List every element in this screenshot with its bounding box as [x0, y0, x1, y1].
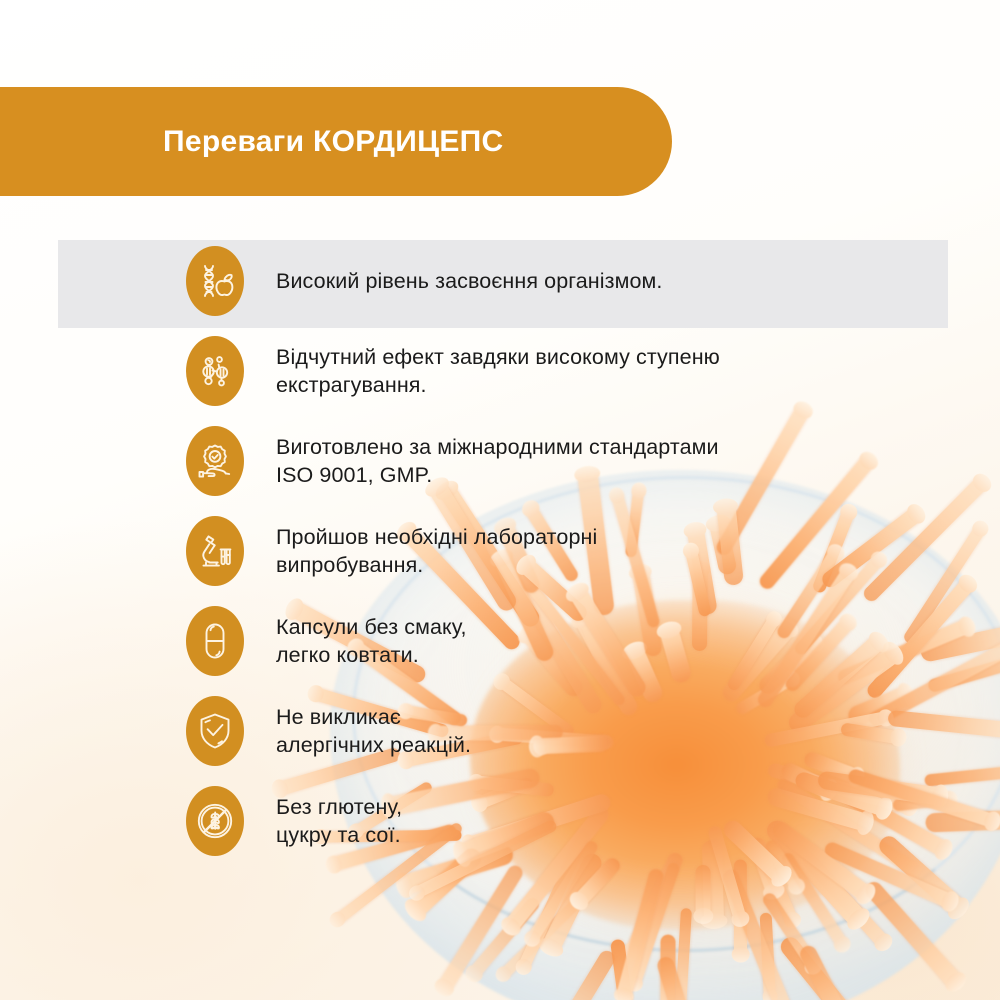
benefit-text: Виготовлено за міжнародними стандартами …	[276, 433, 719, 489]
capsule-pill-icon	[186, 606, 244, 676]
benefit-text: Не викликає алергічних реакцій.	[276, 703, 471, 759]
benefit-row: Не викликає алергічних реакцій.	[0, 686, 1000, 776]
benefit-row: Відчутний ефект завдяки високому ступеню…	[0, 326, 1000, 416]
benefit-text: Капсули без смаку, легко ковтати.	[276, 613, 467, 669]
mushroom-strand	[696, 865, 711, 920]
benefit-text: Високий рівень засвоєння організмом.	[276, 267, 663, 295]
microscope-test-tubes-icon	[186, 516, 244, 586]
benefit-row: Високий рівень засвоєння організмом.	[0, 236, 1000, 326]
shield-check-icon	[186, 696, 244, 766]
benefit-row: Виготовлено за міжнародними стандартами …	[0, 416, 1000, 506]
molecule-cells-icon	[186, 336, 244, 406]
benefits-list: Високий рівень засвоєння організмом. Від…	[0, 236, 1000, 866]
gluten-free-wheat-icon	[186, 786, 244, 856]
benefit-text: Без глютену, цукру та сої.	[276, 793, 402, 849]
page-title: Переваги КОРДИЦЕПС	[163, 125, 504, 159]
benefit-row: Капсули без смаку, легко ковтати.	[0, 596, 1000, 686]
hand-quality-badge-icon	[186, 426, 244, 496]
benefit-row: Без глютену, цукру та сої.	[0, 776, 1000, 866]
benefit-text: Відчутний ефект завдяки високому ступеню…	[276, 343, 720, 399]
benefit-row: Пройшов необхідні лабораторні випробуван…	[0, 506, 1000, 596]
dna-apple-icon	[186, 246, 244, 316]
promo-infographic-page: Переваги КОРДИЦЕПС Високий рівень засвоє…	[0, 0, 1000, 1000]
header-banner: Переваги КОРДИЦЕПС	[0, 87, 672, 196]
benefit-text: Пройшов необхідні лабораторні випробуван…	[276, 523, 597, 579]
